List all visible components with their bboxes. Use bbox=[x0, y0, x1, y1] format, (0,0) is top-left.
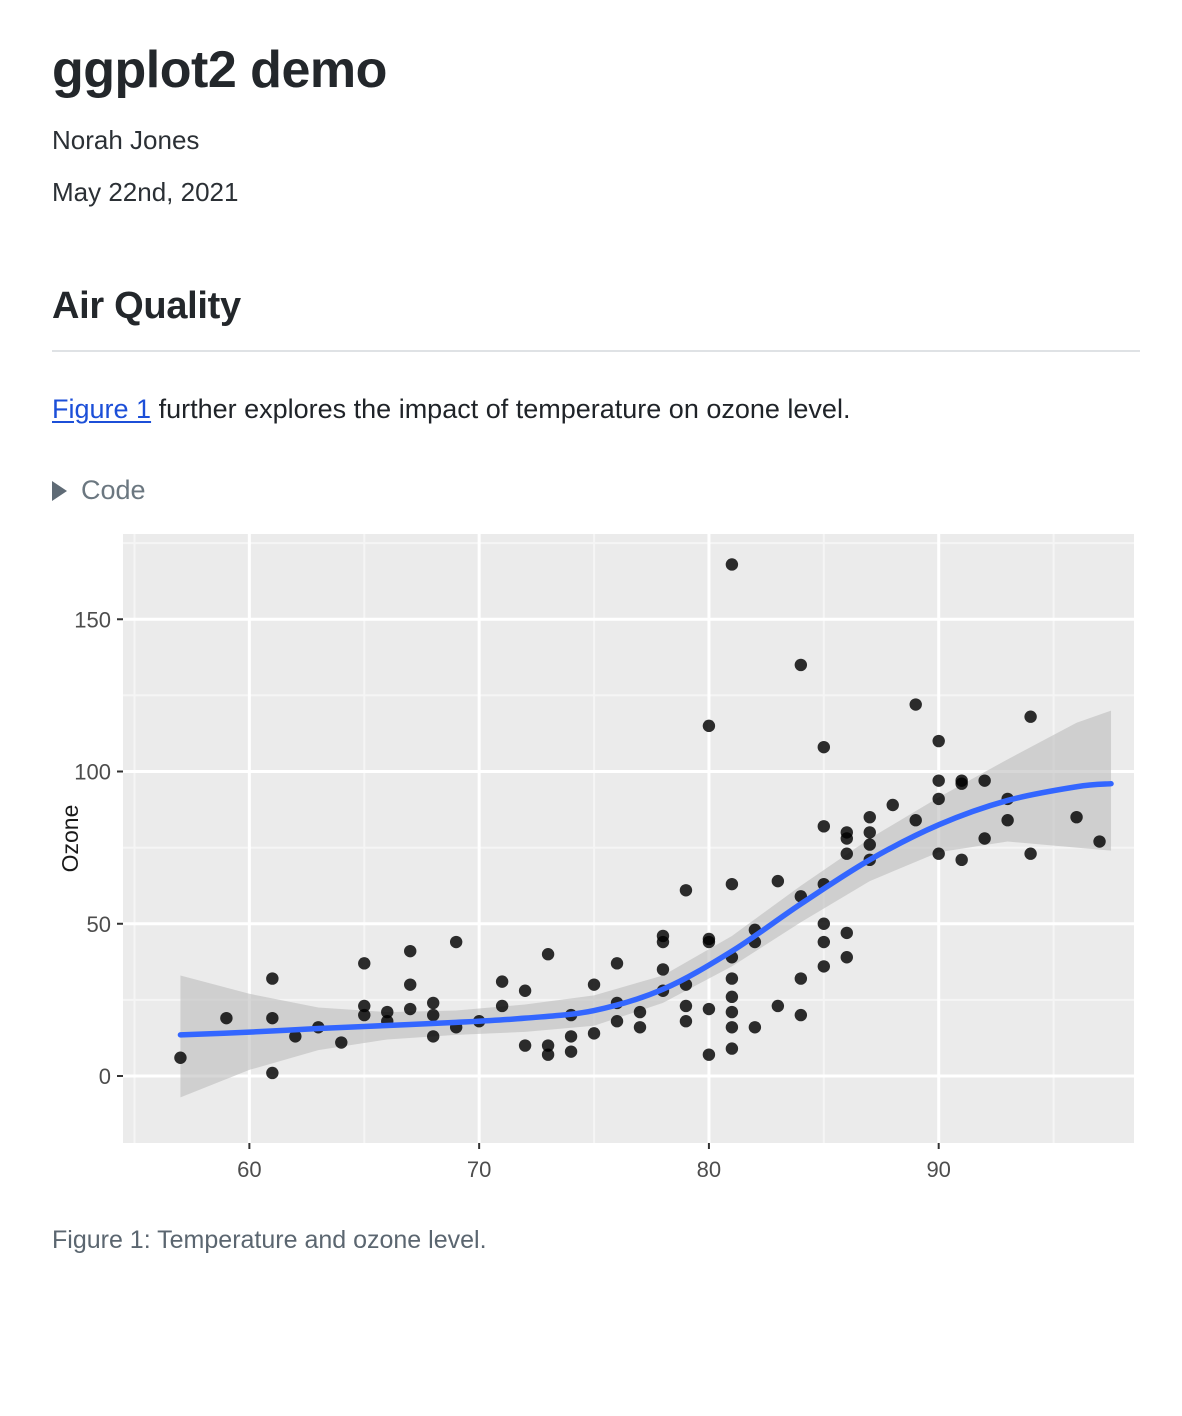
y-axis-title: Ozone bbox=[57, 805, 83, 873]
data-point bbox=[1024, 711, 1036, 723]
ozone-temp-scatter-plot: 05010015060708090TempOzone bbox=[52, 532, 1140, 1192]
data-point bbox=[864, 811, 876, 823]
data-point bbox=[358, 1009, 370, 1021]
data-point bbox=[703, 1049, 715, 1061]
data-point bbox=[841, 927, 853, 939]
data-point bbox=[634, 1006, 646, 1018]
data-point bbox=[864, 839, 876, 851]
data-point bbox=[1093, 836, 1105, 848]
data-point bbox=[427, 997, 439, 1009]
intro-paragraph-text: further explores the impact of temperatu… bbox=[151, 394, 850, 424]
data-point bbox=[680, 884, 692, 896]
x-tick-label: 80 bbox=[697, 1157, 721, 1182]
data-point bbox=[749, 1021, 761, 1033]
data-point bbox=[519, 1040, 531, 1052]
data-point bbox=[703, 1003, 715, 1015]
code-toggle-label: Code bbox=[81, 475, 146, 506]
data-point bbox=[588, 979, 600, 991]
data-point bbox=[335, 1037, 347, 1049]
data-point bbox=[726, 991, 738, 1003]
data-point bbox=[657, 964, 669, 976]
data-point bbox=[818, 961, 830, 973]
data-point bbox=[404, 979, 416, 991]
x-tick-label: 90 bbox=[926, 1157, 950, 1182]
data-point bbox=[726, 973, 738, 985]
data-point bbox=[910, 814, 922, 826]
data-point bbox=[680, 1015, 692, 1027]
data-point bbox=[358, 958, 370, 970]
data-point bbox=[1070, 811, 1082, 823]
data-point bbox=[932, 775, 944, 787]
data-point bbox=[932, 735, 944, 747]
data-point bbox=[955, 775, 967, 787]
data-point bbox=[1001, 814, 1013, 826]
data-point bbox=[542, 948, 554, 960]
data-point bbox=[887, 799, 899, 811]
data-point bbox=[772, 875, 784, 887]
chevron-right-icon bbox=[52, 481, 67, 501]
data-point bbox=[427, 1031, 439, 1043]
data-point bbox=[726, 878, 738, 890]
data-point bbox=[542, 1049, 554, 1061]
figure-caption: Figure 1: Temperature and ozone level. bbox=[52, 1192, 1130, 1257]
code-disclosure-toggle[interactable]: Code bbox=[52, 429, 212, 506]
data-point bbox=[726, 1043, 738, 1055]
data-point bbox=[496, 1000, 508, 1012]
data-point bbox=[726, 1021, 738, 1033]
data-point bbox=[611, 958, 623, 970]
data-point bbox=[427, 1009, 439, 1021]
data-point bbox=[634, 1021, 646, 1033]
data-point bbox=[910, 699, 922, 711]
data-point bbox=[496, 976, 508, 988]
data-point bbox=[795, 1009, 807, 1021]
data-point bbox=[565, 1046, 577, 1058]
document-page: ggplot2 demo Norah Jones May 22nd, 2021 … bbox=[0, 0, 1182, 1416]
data-point bbox=[864, 827, 876, 839]
intro-paragraph: Figure 1 further explores the impact of … bbox=[52, 352, 1130, 429]
y-tick-label: 0 bbox=[99, 1064, 111, 1089]
data-point bbox=[266, 973, 278, 985]
data-point bbox=[726, 1006, 738, 1018]
figure-1-link[interactable]: Figure 1 bbox=[52, 394, 151, 424]
data-point bbox=[657, 936, 669, 948]
data-point bbox=[174, 1052, 186, 1064]
figure-1: 05010015060708090TempOzone bbox=[52, 506, 1130, 1192]
y-tick-label: 50 bbox=[87, 912, 111, 937]
data-point bbox=[519, 985, 531, 997]
data-point bbox=[795, 659, 807, 671]
data-point bbox=[841, 848, 853, 860]
data-point bbox=[220, 1012, 232, 1024]
data-point bbox=[588, 1028, 600, 1040]
data-point bbox=[266, 1012, 278, 1024]
data-point bbox=[404, 945, 416, 957]
data-point bbox=[932, 848, 944, 860]
data-point bbox=[611, 1015, 623, 1027]
data-point bbox=[565, 1031, 577, 1043]
author-byline: Norah Jones bbox=[52, 99, 1130, 156]
x-tick-label: 70 bbox=[467, 1157, 491, 1182]
data-point bbox=[841, 827, 853, 839]
y-tick-label: 100 bbox=[74, 760, 111, 785]
data-point bbox=[978, 775, 990, 787]
data-point bbox=[680, 1000, 692, 1012]
data-point bbox=[795, 973, 807, 985]
data-point bbox=[818, 936, 830, 948]
data-point bbox=[818, 918, 830, 930]
data-point bbox=[703, 720, 715, 732]
data-point bbox=[978, 833, 990, 845]
data-point bbox=[703, 936, 715, 948]
data-point bbox=[772, 1000, 784, 1012]
data-point bbox=[818, 741, 830, 753]
data-point bbox=[932, 793, 944, 805]
section-heading-air-quality: Air Quality bbox=[52, 209, 1130, 329]
data-point bbox=[726, 559, 738, 571]
data-point bbox=[1024, 848, 1036, 860]
data-point bbox=[404, 1003, 416, 1015]
publish-date: May 22nd, 2021 bbox=[52, 156, 1130, 208]
y-tick-label: 150 bbox=[74, 608, 111, 633]
x-tick-label: 60 bbox=[237, 1157, 261, 1182]
data-point bbox=[818, 821, 830, 833]
data-point bbox=[841, 951, 853, 963]
data-point bbox=[450, 936, 462, 948]
data-point bbox=[955, 854, 967, 866]
page-title: ggplot2 demo bbox=[52, 0, 1130, 99]
data-point bbox=[266, 1067, 278, 1079]
